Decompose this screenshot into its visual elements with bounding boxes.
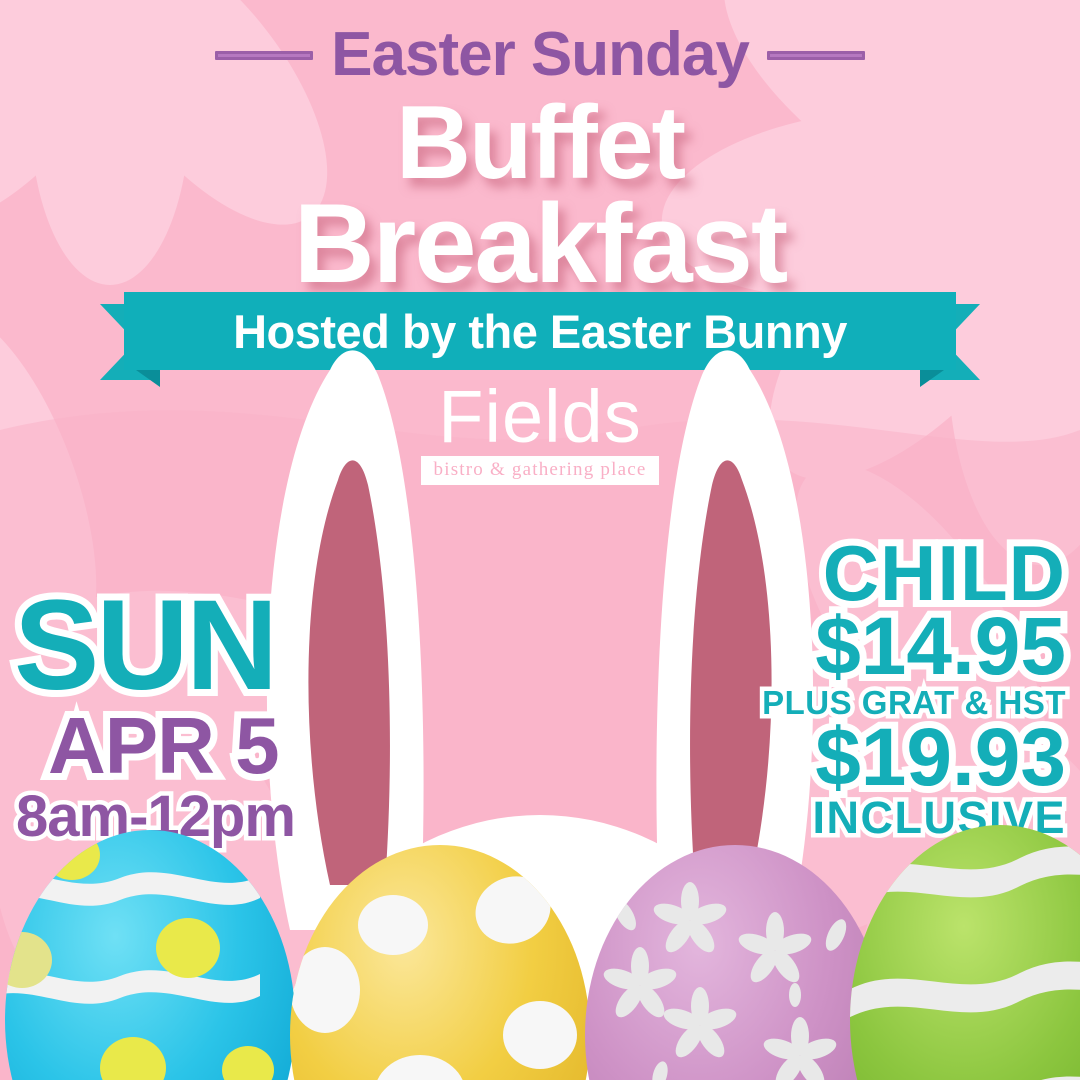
yellow-egg [290,845,590,1080]
fields-logo: Fields bistro & gathering place [0,382,1080,485]
page-title: Buffet Breakfast [0,96,1080,295]
logo-tagline-box: bistro & gathering place [421,456,660,485]
event-date: APR 5 [14,706,295,786]
mauve-egg [585,845,885,1080]
green-egg [840,825,1080,1080]
easter-promo-poster: Easter Sunday Buffet Breakfast Hosted by… [0,0,1080,1080]
logo-tagline: bistro & gathering place [434,459,647,480]
event-date-block: SUN APR 5 8am-12pm [14,582,295,846]
price-base: $14.95 [762,606,1066,688]
easter-eggs-row [0,820,1080,1080]
event-day: SUN [14,582,295,710]
dash-left-icon [215,51,313,60]
pricing-block: CHILD $14.95 PLUS GRAT & HST $19.93 INCL… [762,534,1066,840]
price-total: $19.93 [762,717,1066,799]
eyebrow-row: Easter Sunday [0,24,1080,86]
title-line-2: Breakfast [0,192,1080,295]
dash-right-icon [767,51,865,60]
eyebrow-text: Easter Sunday [331,24,749,86]
logo-name: Fields [0,382,1080,452]
title-line-1: Buffet [0,96,1080,192]
blue-egg [0,830,295,1080]
